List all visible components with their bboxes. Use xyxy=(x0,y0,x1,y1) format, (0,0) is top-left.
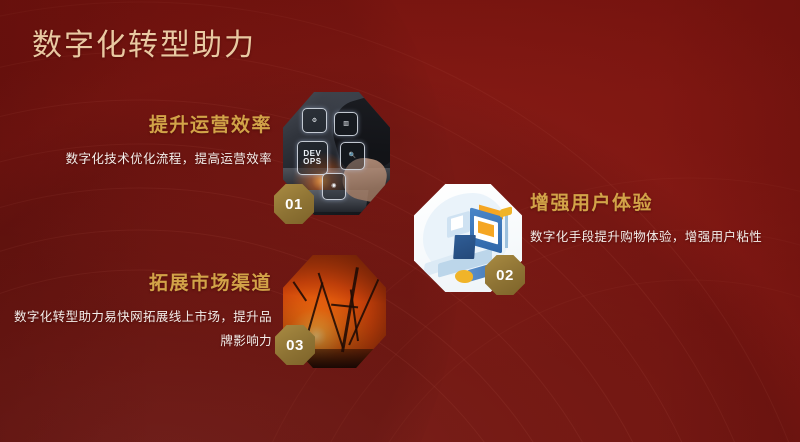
search-icon: 🔍 xyxy=(340,142,366,170)
feature-heading-3: 拓展市场渠道 xyxy=(6,268,272,295)
feature-text-block-2: 增强用户体验 数字化手段提升购物体验，增强用户粘性 xyxy=(530,188,792,249)
presentation-slide: 数字化转型助力 提升运营效率 数字化技术优化流程，提高运营效率 拓展市场渠道 数… xyxy=(0,0,800,442)
feature-body-3: 数字化转型助力易快网拓展线上市场，提升品牌影响力 xyxy=(6,305,272,354)
feature-text-block-3: 拓展市场渠道 数字化转型助力易快网拓展线上市场，提升品牌影响力 xyxy=(6,268,272,354)
feature-body-2: 数字化手段提升购物体验，增强用户粘性 xyxy=(530,225,792,249)
devops-label-icon: DEV OPS xyxy=(297,141,328,175)
feature-number-badge-2: 02 xyxy=(485,255,525,295)
bar-chart-icon: ▥ xyxy=(334,112,357,136)
illustration-coin xyxy=(455,270,473,283)
feature-heading-1: 提升运营效率 xyxy=(10,110,272,137)
user-icon: ◉ xyxy=(322,173,346,200)
illustration-lamp-head xyxy=(500,206,512,217)
illustration-lamp-pole xyxy=(505,211,508,248)
illustration-shopping-bag xyxy=(453,235,475,259)
page-title: 数字化转型助力 xyxy=(32,20,256,64)
feature-number-badge-1: 01 xyxy=(274,184,314,224)
feature-number-badge-3: 03 xyxy=(275,325,315,365)
feature-body-1: 数字化技术优化流程，提高运营效率 xyxy=(10,147,272,171)
feature-text-block-1: 提升运营效率 数字化技术优化流程，提高运营效率 xyxy=(10,110,272,171)
gear-icon: ⚙ xyxy=(302,108,326,133)
feature-heading-2: 增强用户体验 xyxy=(530,188,792,215)
